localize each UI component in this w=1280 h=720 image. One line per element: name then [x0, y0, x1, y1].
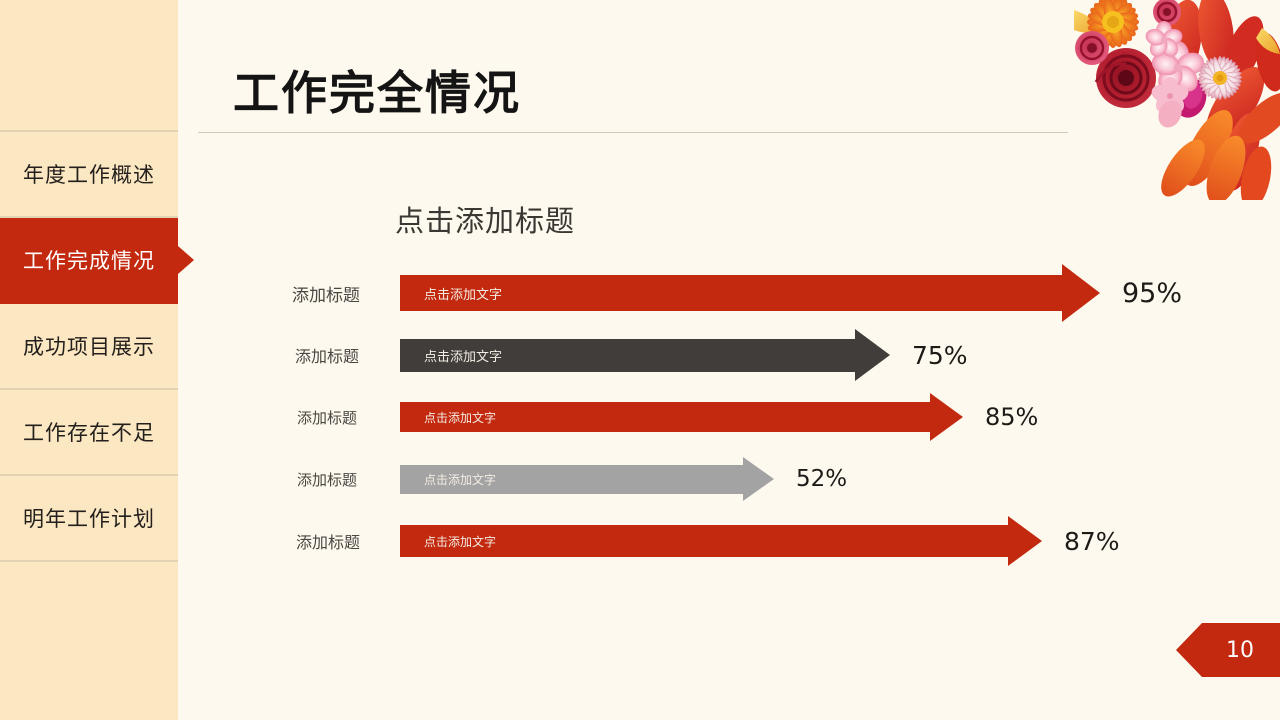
bar-shaft: 点击添加文字 — [400, 465, 743, 494]
page-title: 工作完全情况 — [233, 57, 521, 123]
presentation-slide: 年度工作概述工作完成情况成功项目展示工作存在不足明年工作计划 工作完全情况 点击… — [0, 0, 1280, 720]
bar-arrow: 点击添加文字 — [400, 264, 1100, 322]
bar-arrowhead — [855, 329, 890, 381]
bar-inline-text: 点击添加文字 — [400, 533, 496, 550]
bar-value-label: 75% — [912, 341, 968, 370]
title-divider — [198, 132, 1068, 133]
bar-arrow-group: 点击添加文字95% — [400, 264, 1182, 322]
chart-row: 添加标题点击添加文字52% — [0, 448, 1280, 510]
bar-shaft: 点击添加文字 — [400, 339, 855, 372]
bar-arrow-group: 点击添加文字52% — [400, 457, 847, 501]
bar-arrow: 点击添加文字 — [400, 393, 963, 441]
bar-value-label: 52% — [796, 466, 847, 492]
bar-arrowhead — [1008, 516, 1042, 566]
chart-row: 添加标题点击添加文字85% — [0, 386, 1280, 448]
chart-row: 添加标题点击添加文字95% — [0, 262, 1280, 324]
bar-arrowhead — [743, 457, 774, 501]
page-number-badge: 10 — [1176, 623, 1280, 677]
sidebar-top-spacer — [0, 0, 178, 132]
bar-inline-text: 点击添加文字 — [400, 284, 502, 303]
bar-shaft: 点击添加文字 — [400, 525, 1008, 557]
bar-value-label: 95% — [1122, 278, 1182, 309]
sidebar-item-label: 年度工作概述 — [23, 159, 155, 189]
bar-arrow: 点击添加文字 — [400, 516, 1042, 566]
arrow-bar-chart: 添加标题点击添加文字95%添加标题点击添加文字75%添加标题点击添加文字85%添… — [0, 262, 1280, 572]
bar-arrow: 点击添加文字 — [400, 457, 774, 501]
bar-arrowhead — [930, 393, 963, 441]
bar-category-label: 添加标题 — [295, 343, 359, 367]
bar-category-label: 添加标题 — [297, 407, 357, 428]
floral-bouquet-decoration — [1030, 0, 1280, 200]
bar-inline-text: 点击添加文字 — [400, 471, 496, 488]
bar-arrow-group: 点击添加文字85% — [400, 393, 1038, 441]
bar-shaft: 点击添加文字 — [400, 402, 930, 432]
chart-row: 添加标题点击添加文字75% — [0, 324, 1280, 386]
chart-row: 添加标题点击添加文字87% — [0, 510, 1280, 572]
bar-arrow: 点击添加文字 — [400, 329, 890, 381]
bar-category-label: 添加标题 — [297, 469, 357, 490]
bar-inline-text: 点击添加文字 — [400, 346, 502, 365]
bar-category-label: 添加标题 — [292, 281, 360, 306]
sidebar-item-0[interactable]: 年度工作概述 — [0, 132, 178, 218]
bar-arrow-group: 点击添加文字75% — [400, 329, 968, 381]
bar-inline-text: 点击添加文字 — [400, 409, 496, 426]
bar-value-label: 87% — [1064, 527, 1120, 556]
bar-arrowhead — [1062, 264, 1100, 322]
bar-category-label: 添加标题 — [296, 529, 360, 553]
bar-value-label: 85% — [985, 403, 1038, 431]
bar-shaft: 点击添加文字 — [400, 275, 1062, 311]
chart-title: 点击添加标题 — [395, 198, 575, 240]
bar-arrow-group: 点击添加文字87% — [400, 516, 1120, 566]
